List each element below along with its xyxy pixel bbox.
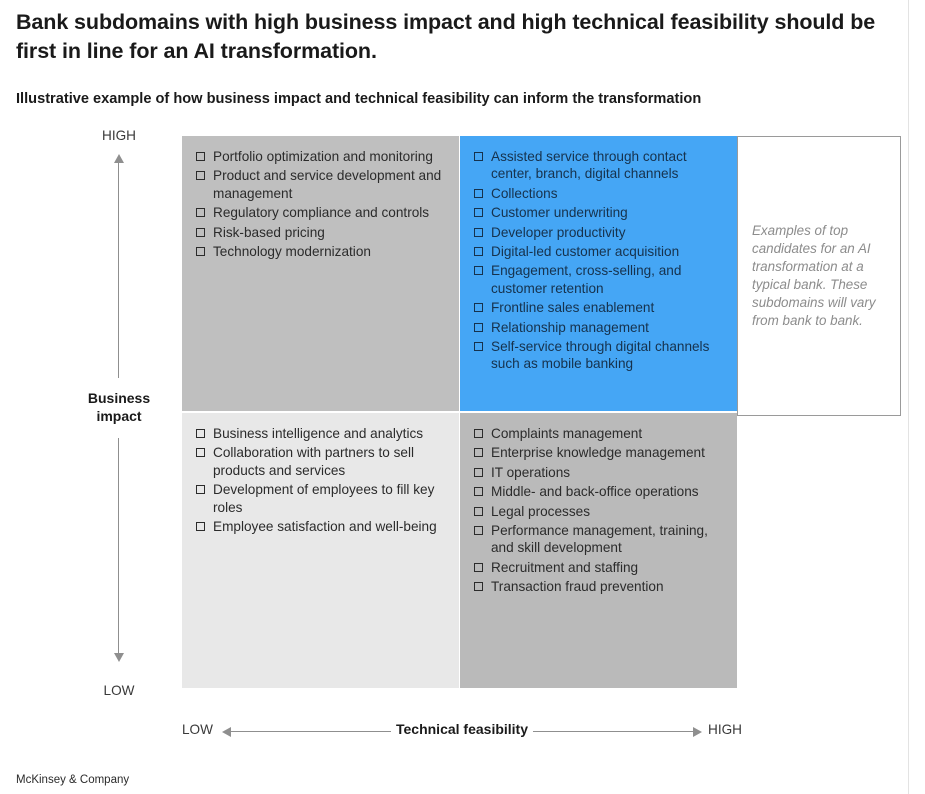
- list-item[interactable]: Transaction fraud prevention: [474, 578, 727, 595]
- header: Bank subdomains with high business impac…: [16, 8, 896, 109]
- subdomain-list: Business intelligence and analyticsColla…: [196, 425, 449, 535]
- list-item[interactable]: Legal processes: [474, 503, 727, 520]
- horizontal-axis-high-label: HIGH: [708, 722, 742, 737]
- checkbox-icon[interactable]: [196, 228, 205, 237]
- list-item-label: Assisted service through contact center,…: [491, 149, 687, 181]
- horizontal-axis: LOW Technical feasibility HIGH: [182, 720, 742, 744]
- vertical-axis-down-arrow-icon: [114, 653, 124, 662]
- list-item-label: Transaction fraud prevention: [491, 579, 664, 594]
- checkbox-icon[interactable]: [474, 247, 483, 256]
- list-item[interactable]: Enterprise knowledge management: [474, 444, 727, 461]
- quadrant-matrix: Portfolio optimization and monitoringPro…: [182, 136, 735, 688]
- checkbox-icon[interactable]: [196, 152, 205, 161]
- checkbox-icon[interactable]: [474, 563, 483, 572]
- horizontal-axis-title: Technical feasibility: [391, 721, 533, 737]
- vertical-axis: HIGH Business impact LOW: [64, 128, 174, 698]
- list-item-label: Regulatory compliance and controls: [213, 205, 429, 220]
- list-item[interactable]: Risk-based pricing: [196, 224, 449, 241]
- quadrant-low-impact-low-feasibility: Business intelligence and analyticsColla…: [182, 413, 459, 688]
- checkbox-icon[interactable]: [474, 323, 483, 332]
- vertical-axis-title: Business impact: [64, 390, 174, 425]
- subdomain-list: Assisted service through contact center,…: [474, 148, 727, 373]
- checkbox-icon[interactable]: [196, 208, 205, 217]
- list-item-label: Development of employees to fill key rol…: [213, 482, 434, 514]
- list-item[interactable]: Employee satisfaction and well-being: [196, 518, 449, 535]
- list-item[interactable]: Middle- and back-office operations: [474, 483, 727, 500]
- list-item[interactable]: Product and service development and mana…: [196, 167, 449, 202]
- list-item[interactable]: Performance management, training, and sk…: [474, 522, 727, 557]
- vertical-axis-up-arrow-icon: [114, 154, 124, 163]
- list-item[interactable]: Business intelligence and analytics: [196, 425, 449, 442]
- checkbox-icon[interactable]: [474, 266, 483, 275]
- list-item[interactable]: Technology modernization: [196, 243, 449, 260]
- checkbox-icon[interactable]: [196, 429, 205, 438]
- list-item-label: Customer underwriting: [491, 205, 628, 220]
- list-item[interactable]: Portfolio optimization and monitoring: [196, 148, 449, 165]
- horizontal-axis-right-arrow-icon: [693, 727, 702, 737]
- callout-box: Examples of top candidates for an AI tra…: [737, 136, 901, 416]
- checkbox-icon[interactable]: [196, 247, 205, 256]
- quadrant-high-impact-high-feasibility: Assisted service through contact center,…: [460, 136, 737, 411]
- vertical-axis-upper-line: [118, 162, 119, 378]
- list-item[interactable]: Regulatory compliance and controls: [196, 204, 449, 221]
- list-item-label: Legal processes: [491, 504, 590, 519]
- checkbox-icon[interactable]: [474, 468, 483, 477]
- checkbox-icon[interactable]: [196, 448, 205, 457]
- list-item[interactable]: Complaints management: [474, 425, 727, 442]
- list-item-label: Collaboration with partners to sell prod…: [213, 445, 414, 477]
- list-item[interactable]: Assisted service through contact center,…: [474, 148, 727, 183]
- list-item-label: Digital-led customer acquisition: [491, 244, 679, 259]
- checkbox-icon[interactable]: [474, 448, 483, 457]
- subdomain-list: Complaints managementEnterprise knowledg…: [474, 425, 727, 596]
- checkbox-icon[interactable]: [474, 152, 483, 161]
- list-item-label: Performance management, training, and sk…: [491, 523, 708, 555]
- quadrant-high-impact-low-feasibility: Portfolio optimization and monitoringPro…: [182, 136, 459, 411]
- list-item-label: Self-service through digital channels su…: [491, 339, 709, 371]
- list-item[interactable]: Digital-led customer acquisition: [474, 243, 727, 260]
- list-item-label: Recruitment and staffing: [491, 560, 638, 575]
- subdomain-list: Portfolio optimization and monitoringPro…: [196, 148, 449, 260]
- list-item-label: Technology modernization: [213, 244, 371, 259]
- vertical-axis-lower-line: [118, 438, 119, 654]
- page-title: Bank subdomains with high business impac…: [16, 8, 896, 65]
- checkbox-icon[interactable]: [474, 487, 483, 496]
- checkbox-icon[interactable]: [474, 208, 483, 217]
- checkbox-icon[interactable]: [474, 582, 483, 591]
- list-item-label: Employee satisfaction and well-being: [213, 519, 437, 534]
- list-item[interactable]: Collections: [474, 185, 727, 202]
- page-subtitle: Illustrative example of how business imp…: [16, 65, 896, 109]
- list-item-label: Frontline sales enablement: [491, 300, 654, 315]
- list-item[interactable]: Recruitment and staffing: [474, 559, 727, 576]
- list-item-label: Product and service development and mana…: [213, 168, 441, 200]
- checkbox-icon[interactable]: [196, 522, 205, 531]
- checkbox-icon[interactable]: [474, 507, 483, 516]
- list-item-label: IT operations: [491, 465, 570, 480]
- callout-text: Examples of top candidates for an AI tra…: [752, 222, 886, 331]
- list-item-label: Risk-based pricing: [213, 225, 325, 240]
- list-item-label: Complaints management: [491, 426, 642, 441]
- checkbox-icon[interactable]: [474, 429, 483, 438]
- list-item-label: Developer productivity: [491, 225, 626, 240]
- list-item[interactable]: Frontline sales enablement: [474, 299, 727, 316]
- checkbox-icon[interactable]: [474, 228, 483, 237]
- list-item-label: Portfolio optimization and monitoring: [213, 149, 433, 164]
- list-item[interactable]: Collaboration with partners to sell prod…: [196, 444, 449, 479]
- list-item-label: Collections: [491, 186, 558, 201]
- horizontal-axis-low-label: LOW: [182, 722, 213, 737]
- list-item[interactable]: Developer productivity: [474, 224, 727, 241]
- list-item-label: Enterprise knowledge management: [491, 445, 705, 460]
- list-item[interactable]: Customer underwriting: [474, 204, 727, 221]
- list-item[interactable]: Development of employees to fill key rol…: [196, 481, 449, 516]
- quadrant-low-impact-high-feasibility: Complaints managementEnterprise knowledg…: [460, 413, 737, 688]
- footer-brand: McKinsey & Company: [16, 774, 129, 786]
- checkbox-icon[interactable]: [474, 342, 483, 351]
- vertical-axis-high-label: HIGH: [64, 128, 174, 143]
- checkbox-icon[interactable]: [474, 303, 483, 312]
- checkbox-icon[interactable]: [474, 526, 483, 535]
- list-item-label: Engagement, cross-selling, and customer …: [491, 263, 681, 295]
- page-edge-rule: [908, 0, 909, 794]
- list-item-label: Business intelligence and analytics: [213, 426, 423, 441]
- list-item[interactable]: Engagement, cross-selling, and customer …: [474, 262, 727, 297]
- horizontal-axis-left-arrow-icon: [222, 727, 231, 737]
- checkbox-icon[interactable]: [474, 189, 483, 198]
- list-item[interactable]: IT operations: [474, 464, 727, 481]
- list-item[interactable]: Relationship management: [474, 319, 727, 336]
- checkbox-icon[interactable]: [196, 485, 205, 494]
- list-item-label: Relationship management: [491, 320, 649, 335]
- list-item[interactable]: Self-service through digital channels su…: [474, 338, 727, 373]
- vertical-axis-low-label: LOW: [64, 683, 174, 698]
- checkbox-icon[interactable]: [196, 171, 205, 180]
- list-item-label: Middle- and back-office operations: [491, 484, 699, 499]
